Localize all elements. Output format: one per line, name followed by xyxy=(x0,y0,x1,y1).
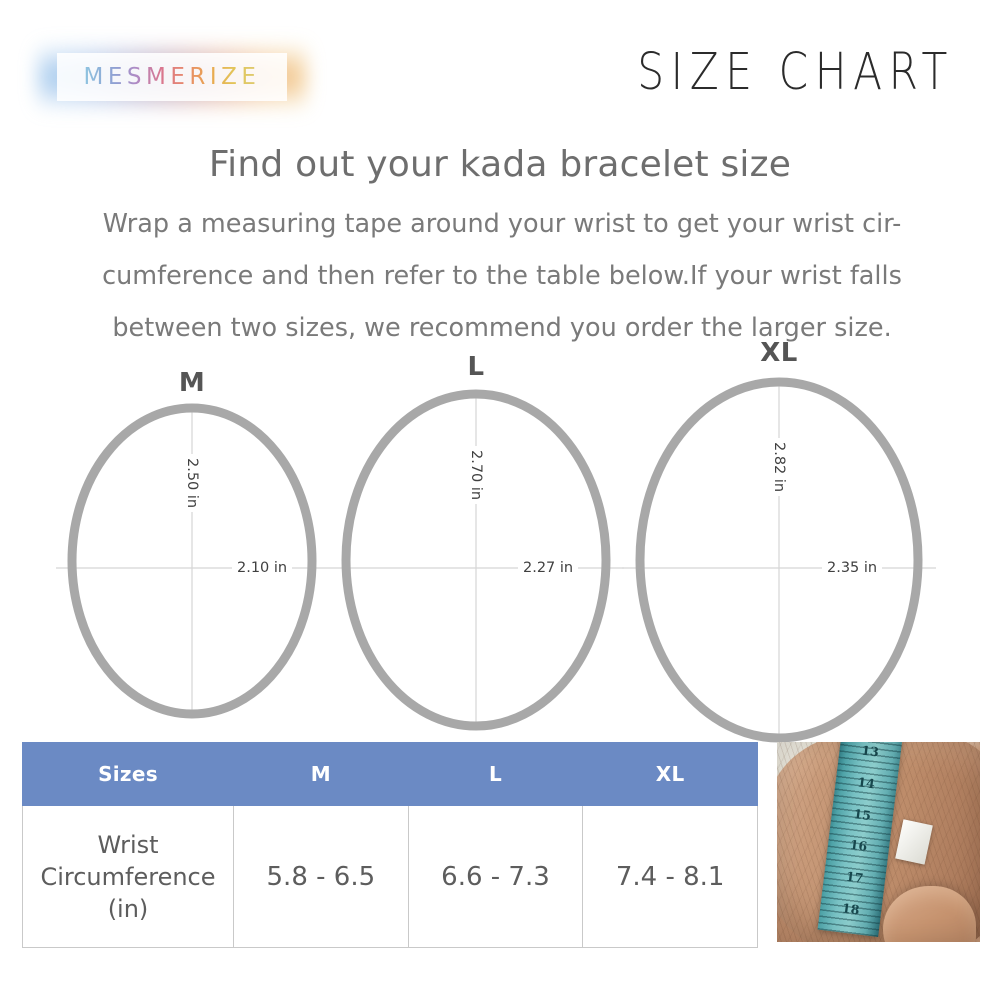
diagram-width-xl: 2.35 in xyxy=(822,560,882,576)
cell-wrist-m: 5.8 - 6.5 xyxy=(234,806,409,948)
row-label-line-3: (in) xyxy=(24,893,232,925)
cell-wrist-xl: 7.4 - 8.1 xyxy=(583,806,758,948)
diagram-letter-xl: XL xyxy=(760,338,798,368)
row-label-line-1: Wrist xyxy=(24,829,232,861)
diagram-letter-l: L xyxy=(467,352,484,382)
diagram-width-l: 2.27 in xyxy=(518,560,578,576)
photo-vignette xyxy=(777,742,980,942)
table-header-m: M xyxy=(234,743,409,806)
wrist-measuring-photo: 13 14 15 16 17 18 xyxy=(777,742,980,942)
size-chart-page: MESMERIZE SIZE CHART Find out your kada … xyxy=(0,0,1000,1000)
diagram-height-m: 2.50 in xyxy=(184,454,200,512)
intro-body-line-2: cumference and then refer to the table b… xyxy=(52,250,952,302)
cell-wrist-l: 6.6 - 7.3 xyxy=(408,806,583,948)
row-label-wrist-circumference: Wrist Circumference (in) xyxy=(23,806,234,948)
page-title: SIZE CHART xyxy=(637,42,954,101)
logo-text: MESMERIZE xyxy=(84,64,261,90)
intro-headline: Find out your kada bracelet size xyxy=(0,144,1000,185)
intro-body-line-1: Wrap a measuring tape around your wrist … xyxy=(52,198,952,250)
table-header-sizes: Sizes xyxy=(23,743,234,806)
bracelet-diagram-xl: XL 2.82 in 2.35 in xyxy=(634,376,924,742)
table-header-l: L xyxy=(408,743,583,806)
brand-logo: MESMERIZE xyxy=(48,46,296,108)
table-header-xl: XL xyxy=(583,743,758,806)
row-label-line-2: Circumference xyxy=(24,861,232,893)
table-header-row: Sizes M L XL xyxy=(23,743,758,806)
bracelet-diagrams: M 2.50 in 2.10 in L 2.70 in 2.27 in XL 2… xyxy=(0,340,1000,740)
diagram-height-xl: 2.82 in xyxy=(771,438,787,496)
logo-box: MESMERIZE xyxy=(57,53,287,101)
bracelet-diagram-m: M 2.50 in 2.10 in xyxy=(66,402,318,720)
size-table: Sizes M L XL Wrist Circumference (in) 5.… xyxy=(22,742,758,948)
oval-outline-xl xyxy=(634,376,924,742)
diagram-width-m: 2.10 in xyxy=(232,560,292,576)
table-row: Wrist Circumference (in) 5.8 - 6.5 6.6 -… xyxy=(23,806,758,948)
diagram-height-l: 2.70 in xyxy=(468,446,484,504)
bracelet-diagram-l: L 2.70 in 2.27 in xyxy=(340,388,612,732)
diagram-letter-m: M xyxy=(179,368,205,398)
intro-body: Wrap a measuring tape around your wrist … xyxy=(52,198,952,354)
